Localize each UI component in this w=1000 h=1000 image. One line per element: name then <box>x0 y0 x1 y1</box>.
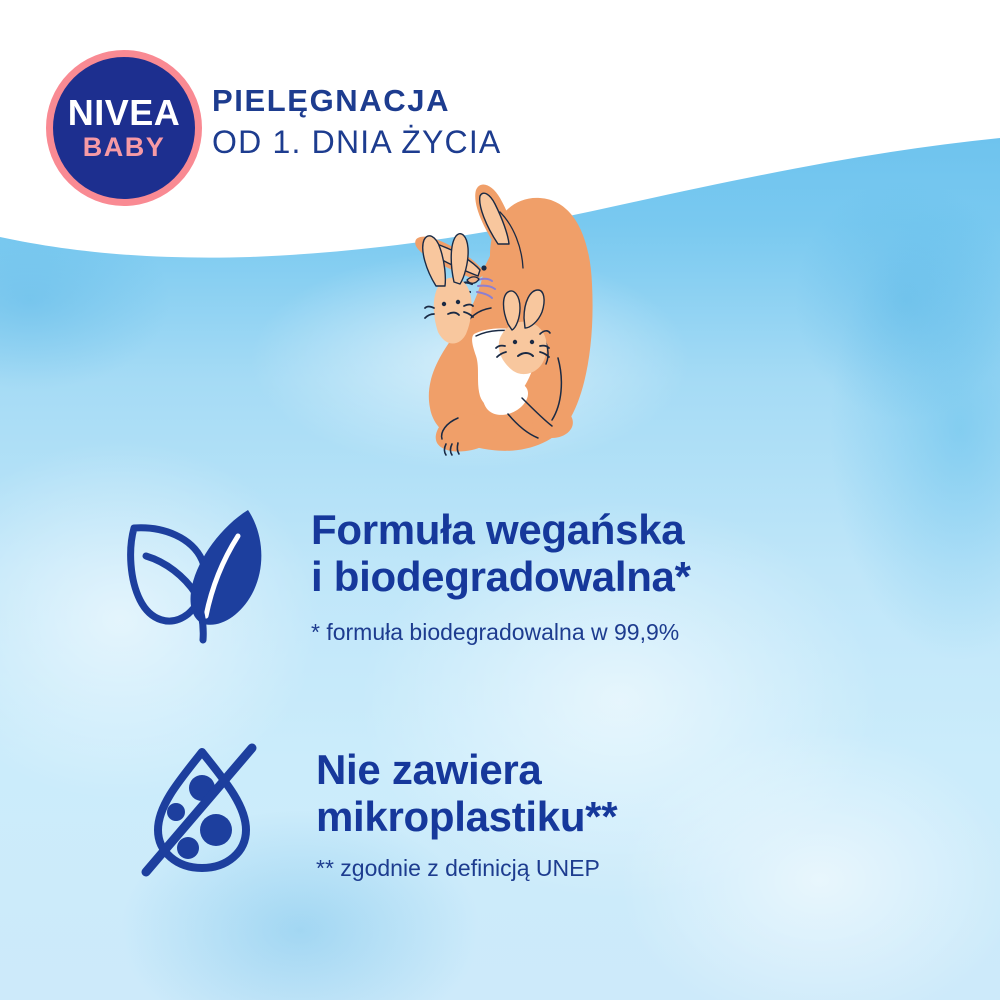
feature-vegan-formula: Formuła wegańska i biodegradowalna* * fo… <box>126 500 691 647</box>
feature-microplastic-text: Nie zawiera mikroplastiku** ** zgodnie z… <box>316 740 617 883</box>
leaf-icon <box>126 500 276 645</box>
feature-microplastic-footnote: ** zgodnie z definicją UNEP <box>316 855 617 883</box>
header-tagline: PIELĘGNACJA OD 1. DNIA ŻYCIA <box>212 83 501 161</box>
feature-vegan-footnote: * formuła biodegradowalna w 99,9% <box>311 619 691 647</box>
header-tagline-line1: PIELĘGNACJA <box>212 83 501 119</box>
logo-wordmark-baby: BABY <box>83 134 166 161</box>
feature-vegan-title-line1: Formuła wegańska <box>311 506 691 553</box>
logo-wordmark-nivea: NIVEA <box>68 95 181 131</box>
feature-microplastic-title-line1: Nie zawiera <box>316 746 617 793</box>
feature-no-microplastic: Nie zawiera mikroplastiku** ** zgodnie z… <box>136 740 617 883</box>
nivea-baby-ad-banner: NIVEA BABY PIELĘGNACJA OD 1. DNIA ŻYCIA <box>0 0 1000 1000</box>
header-tagline-line2: OD 1. DNIA ŻYCIA <box>212 124 501 161</box>
feature-microplastic-title: Nie zawiera mikroplastiku** <box>316 746 617 841</box>
feature-vegan-title: Formuła wegańska i biodegradowalna* <box>311 506 691 601</box>
feature-microplastic-title-line2: mikroplastiku** <box>316 793 617 840</box>
nivea-baby-logo: NIVEA BABY <box>46 50 202 206</box>
rabbit-illustration <box>372 182 628 474</box>
no-microplastic-droplet-icon <box>136 740 268 880</box>
feature-vegan-text: Formuła wegańska i biodegradowalna* * fo… <box>311 500 691 647</box>
feature-vegan-title-line2: i biodegradowalna* <box>311 553 691 600</box>
